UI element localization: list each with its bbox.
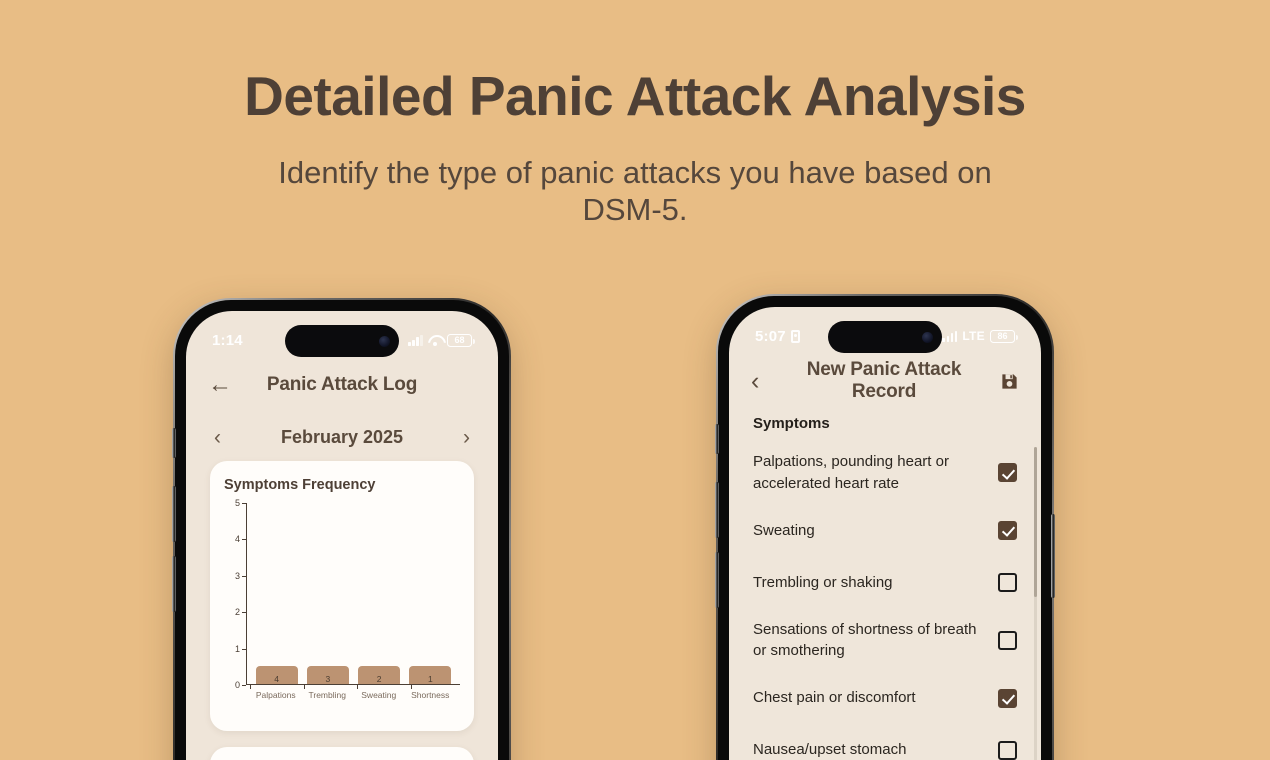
page-title: Detailed Panic Attack Analysis [0, 66, 1270, 128]
save-floppy-icon[interactable] [993, 372, 1019, 391]
symptom-label: Chest pain or discomfort [753, 687, 916, 709]
scrollbar-thumb[interactable] [1034, 447, 1037, 597]
symptom-checkbox[interactable] [998, 573, 1017, 592]
log-entry-card[interactable]: 2025-02-2314:16 [210, 747, 474, 760]
chevron-left-icon[interactable]: ‹ [214, 427, 221, 448]
cellular-bars-icon-right [942, 331, 957, 342]
phone-screen-left: 1:14 68 ← Panic Attack Log ‹ February 20… [186, 311, 498, 760]
power-button-right[interactable] [1051, 514, 1055, 598]
chart-x-tickmark [411, 685, 412, 689]
section-title-symptoms: Symptoms [729, 415, 1041, 432]
chart-y-tick: 3 [235, 571, 240, 581]
status-time: 1:14 [212, 332, 243, 349]
chart-x-tick: Sweating [356, 690, 401, 709]
chart-x-tickmark [357, 685, 358, 689]
status-bar-right-group: 68 [408, 334, 472, 347]
chart-bar-column: 1 [408, 666, 453, 684]
wifi-icon [428, 335, 442, 346]
battery-icon-right: 86 [990, 330, 1015, 343]
app-bar-title-left: Panic Attack Log [234, 374, 450, 396]
symptom-checkbox[interactable] [998, 741, 1017, 760]
chart-bar[interactable]: 3 [307, 666, 349, 684]
volume-down-button-right[interactable] [715, 552, 719, 608]
chart-x-tickmark [304, 685, 305, 689]
dynamic-island [285, 325, 399, 357]
chart-bar-value: 3 [326, 674, 331, 684]
status-bar-right-group-right: LTE 86 [942, 329, 1015, 343]
month-navigator: ‹ February 2025 › [186, 415, 498, 459]
front-camera-icon-right [922, 332, 933, 343]
app-bar-right: ‹ New Panic Attack Record [729, 357, 1041, 405]
symptom-label: Trembling or shaking [753, 572, 893, 594]
symptoms-frequency-card: Symptoms Frequency 543210 4321 Palpation… [210, 461, 474, 731]
chart-y-axis: 543210 [224, 503, 246, 685]
chart-bar-value: 1 [428, 674, 433, 684]
front-camera-icon [379, 336, 390, 347]
battery-icon: 68 [447, 334, 472, 347]
symptom-checkbox[interactable] [998, 689, 1017, 708]
symptom-label: Sweating [753, 520, 815, 542]
hero-section: Detailed Panic Attack Analysis Identify … [0, 0, 1270, 229]
dynamic-island-right [828, 321, 942, 353]
status-time-right: 5:07 [755, 328, 786, 345]
phone-mockup-right: 5:07 LTE 86 ‹ New Panic Attack Record [718, 296, 1052, 760]
chart-x-tick: Palpations [253, 690, 298, 709]
chevron-left-icon-back[interactable]: ‹ [751, 369, 775, 394]
chevron-right-icon[interactable]: › [463, 427, 470, 448]
chart-bar[interactable]: 2 [358, 666, 400, 684]
chart-y-tick: 0 [235, 680, 240, 690]
month-label: February 2025 [281, 427, 403, 448]
symptom-row[interactable]: Trembling or shaking [753, 557, 1017, 609]
status-bar-left-group-right: 5:07 [755, 328, 800, 345]
volume-up-button[interactable] [172, 486, 176, 542]
chart-x-tick: Shortness [408, 690, 453, 709]
chart-bar[interactable]: 1 [409, 666, 451, 684]
network-label: LTE [962, 329, 985, 343]
symptom-checkbox[interactable] [998, 521, 1017, 540]
symptom-checkbox[interactable] [998, 631, 1017, 650]
scrollbar-track[interactable] [1034, 447, 1037, 760]
silent-switch-right[interactable] [715, 424, 719, 454]
status-bar-left-group: 1:14 [212, 332, 243, 349]
symptom-row[interactable]: Sensations of shortness of breath or smo… [753, 609, 1017, 673]
symptom-label: Sensations of shortness of breath or smo… [753, 619, 983, 663]
app-bar-left: ← Panic Attack Log [186, 361, 498, 409]
chart-x-axis: PalpationsTremblingSweatingShortness [246, 685, 460, 709]
symptom-row[interactable]: Chest pain or discomfort [753, 672, 1017, 724]
symptom-row[interactable]: Nausea/upset stomach [753, 724, 1017, 760]
chart-bar-column: 4 [254, 666, 299, 684]
symptom-label: Nausea/upset stomach [753, 739, 906, 760]
chart-bar[interactable]: 4 [256, 666, 298, 684]
chart-y-tick: 5 [235, 498, 240, 508]
phone-screen-right: 5:07 LTE 86 ‹ New Panic Attack Record [729, 307, 1041, 760]
chart-y-tick: 1 [235, 644, 240, 654]
silent-switch[interactable] [172, 428, 176, 458]
chart-y-tick: 4 [235, 534, 240, 544]
symptom-checkbox[interactable] [998, 463, 1017, 482]
symptoms-list: Palpations, pounding heart or accelerate… [729, 441, 1041, 760]
symptom-row[interactable]: Palpations, pounding heart or accelerate… [753, 441, 1017, 505]
chart-plot-area: 4321 [246, 503, 460, 685]
symptom-row[interactable]: Sweating [753, 505, 1017, 557]
volume-up-button-right[interactable] [715, 482, 719, 538]
app-bar-title-right: New Panic Attack Record [775, 359, 993, 403]
chart-bar-value: 2 [377, 674, 382, 684]
phone-mockup-left: 1:14 68 ← Panic Attack Log ‹ February 20… [175, 300, 509, 760]
chart-y-tick: 2 [235, 607, 240, 617]
bar-chart: 543210 4321 PalpationsTremblingSweatingS… [224, 503, 460, 711]
chart-bars: 4321 [247, 503, 460, 684]
volume-down-button[interactable] [172, 556, 176, 612]
cellular-bars-icon [408, 335, 423, 346]
chart-bar-column: 2 [357, 666, 402, 684]
chart-title: Symptoms Frequency [224, 477, 460, 493]
chart-x-tickmark [250, 685, 251, 689]
page-subtitle: Identify the type of panic attacks you h… [235, 154, 1035, 230]
chart-bar-value: 4 [274, 674, 279, 684]
chart-x-tick: Trembling [305, 690, 350, 709]
recording-indicator-icon [791, 330, 800, 343]
symptom-label: Palpations, pounding heart or accelerate… [753, 451, 983, 495]
arrow-left-icon[interactable]: ← [208, 373, 234, 397]
chart-bar-column: 3 [305, 666, 350, 684]
